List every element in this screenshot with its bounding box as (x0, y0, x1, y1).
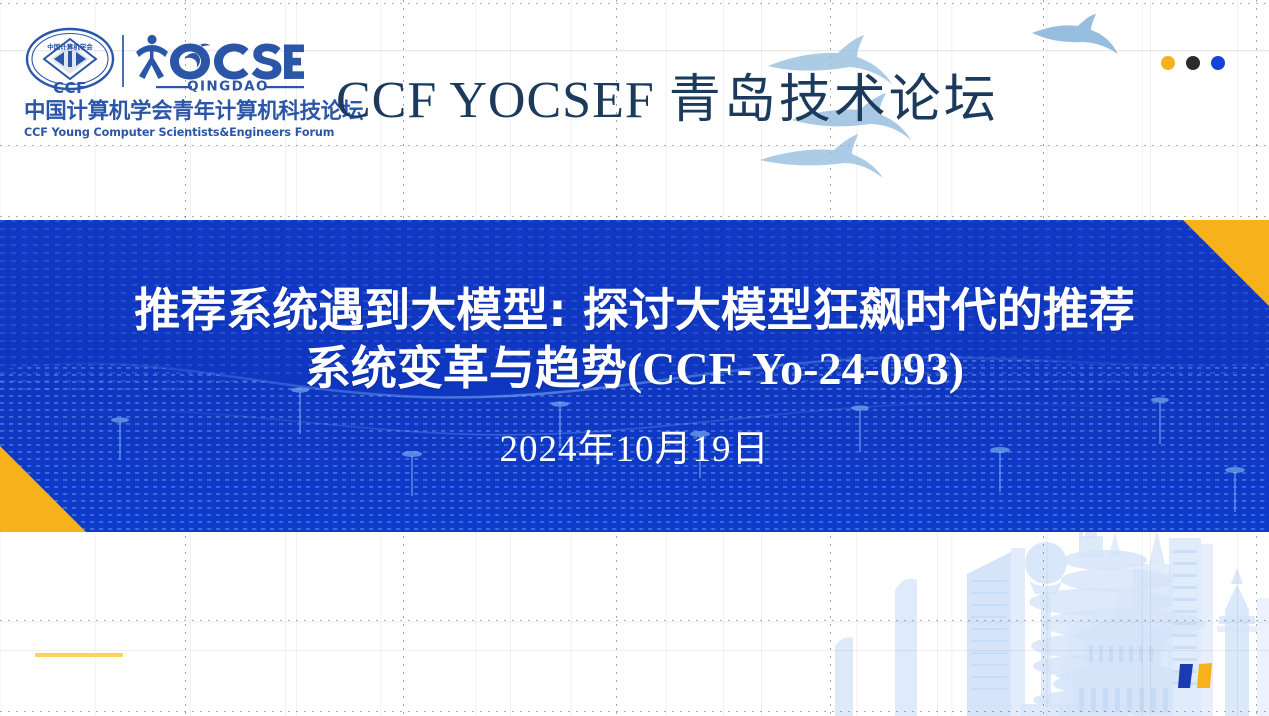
logo-divider (122, 35, 124, 87)
ccf-yocsef-logo: 中国计算机学会 CCF (24, 22, 320, 142)
grid-dotted-row (0, 620, 1269, 621)
slide-title-line1: 推荐系统遇到大模型: 探讨大模型狂飙时代的推荐 (134, 282, 1134, 340)
grid-dotted-row (0, 216, 1269, 217)
slide-date: 2024年10月19日 (500, 418, 770, 472)
header-title-cn: 青岛技术论坛 (669, 70, 999, 130)
accent-line-bottomleft (35, 653, 123, 657)
footer-logo-mark-icon (1176, 660, 1216, 690)
slide-title-line2-cn: 系统变革与趋势 (305, 341, 627, 395)
grid-dotted-row (0, 711, 1269, 712)
corner-dots (1161, 56, 1225, 70)
logo-org-name-cn: 中国计算机学会青年计算机科技论坛 (24, 101, 320, 123)
svg-text:中国计算机学会: 中国计算机学会 (47, 42, 93, 51)
header-title: CCF YOCSEF 青岛技术论坛 (336, 57, 999, 132)
svg-text:CCF: CCF (53, 79, 87, 97)
ccf-emblem-icon: 中国计算机学会 CCF (24, 25, 116, 97)
slide-title-code: (CCF-Yo-24-093) (627, 343, 964, 394)
slide-title: 推荐系统遇到大模型: 探讨大模型狂飙时代的推荐 系统变革与趋势(CCF-Yo-2… (134, 282, 1134, 398)
dot-blue-icon (1211, 56, 1225, 70)
svg-text:QINGDAO: QINGDAO (187, 79, 269, 92)
title-banner: 推荐系统遇到大模型: 探讨大模型狂飙时代的推荐 系统变革与趋势(CCF-Yo-2… (0, 220, 1269, 532)
dot-dark-icon (1186, 56, 1200, 70)
header-title-latin: CCF YOCSEF (336, 72, 655, 129)
yocsef-wordmark-icon: QINGDAO (134, 32, 306, 92)
presentation-slide: 中国计算机学会 CCF (0, 0, 1269, 716)
grid-solid-row (0, 650, 1269, 651)
grid-dotted-row (0, 145, 1269, 146)
grid-dotted-row (0, 3, 1269, 4)
dot-yellow-icon (1161, 56, 1175, 70)
logo-org-name-en: CCF Young Computer Scientists&Engineers … (24, 127, 320, 138)
slide-title-line2: 系统变革与趋势(CCF-Yo-24-093) (134, 340, 1134, 398)
